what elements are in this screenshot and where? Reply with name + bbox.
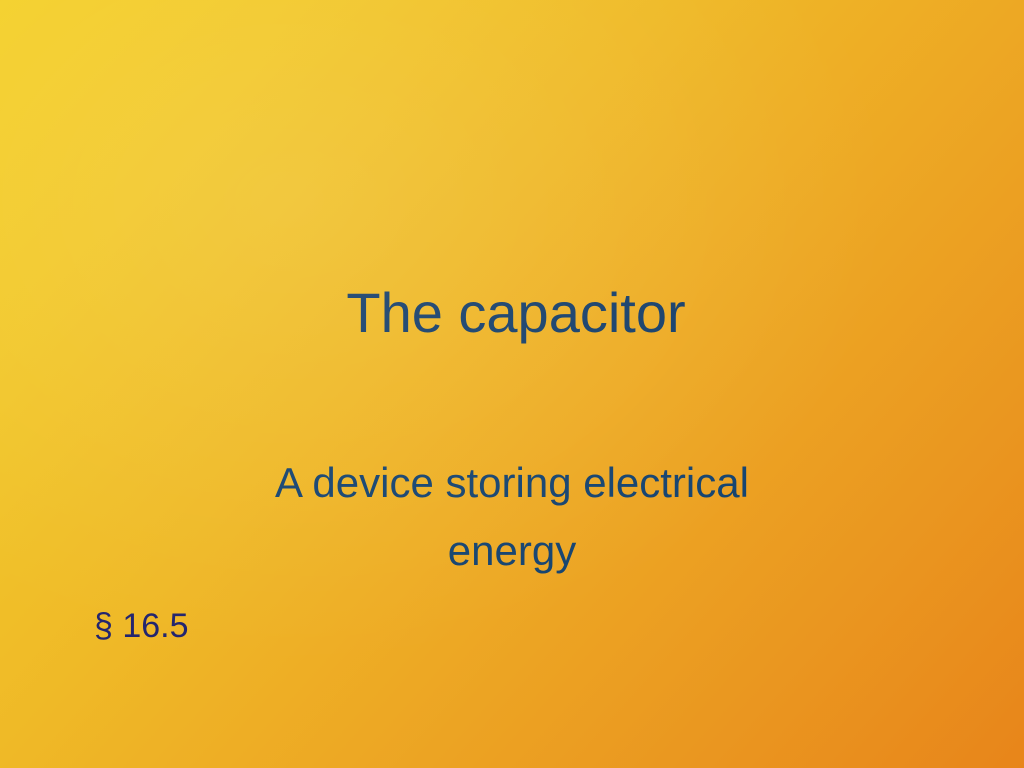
subtitle-line-1: A device storing electrical xyxy=(150,449,874,517)
title-block: The capacitor xyxy=(0,281,1024,345)
subtitle-line-2: energy xyxy=(150,517,874,585)
section-reference: § 16.5 xyxy=(94,606,189,646)
reference-block: § 16.5 xyxy=(94,606,514,646)
presentation-slide: The capacitor A device storing electrica… xyxy=(0,0,1024,768)
page-title: The capacitor xyxy=(346,281,685,345)
subtitle-block: A device storing electrical energy xyxy=(150,449,874,585)
